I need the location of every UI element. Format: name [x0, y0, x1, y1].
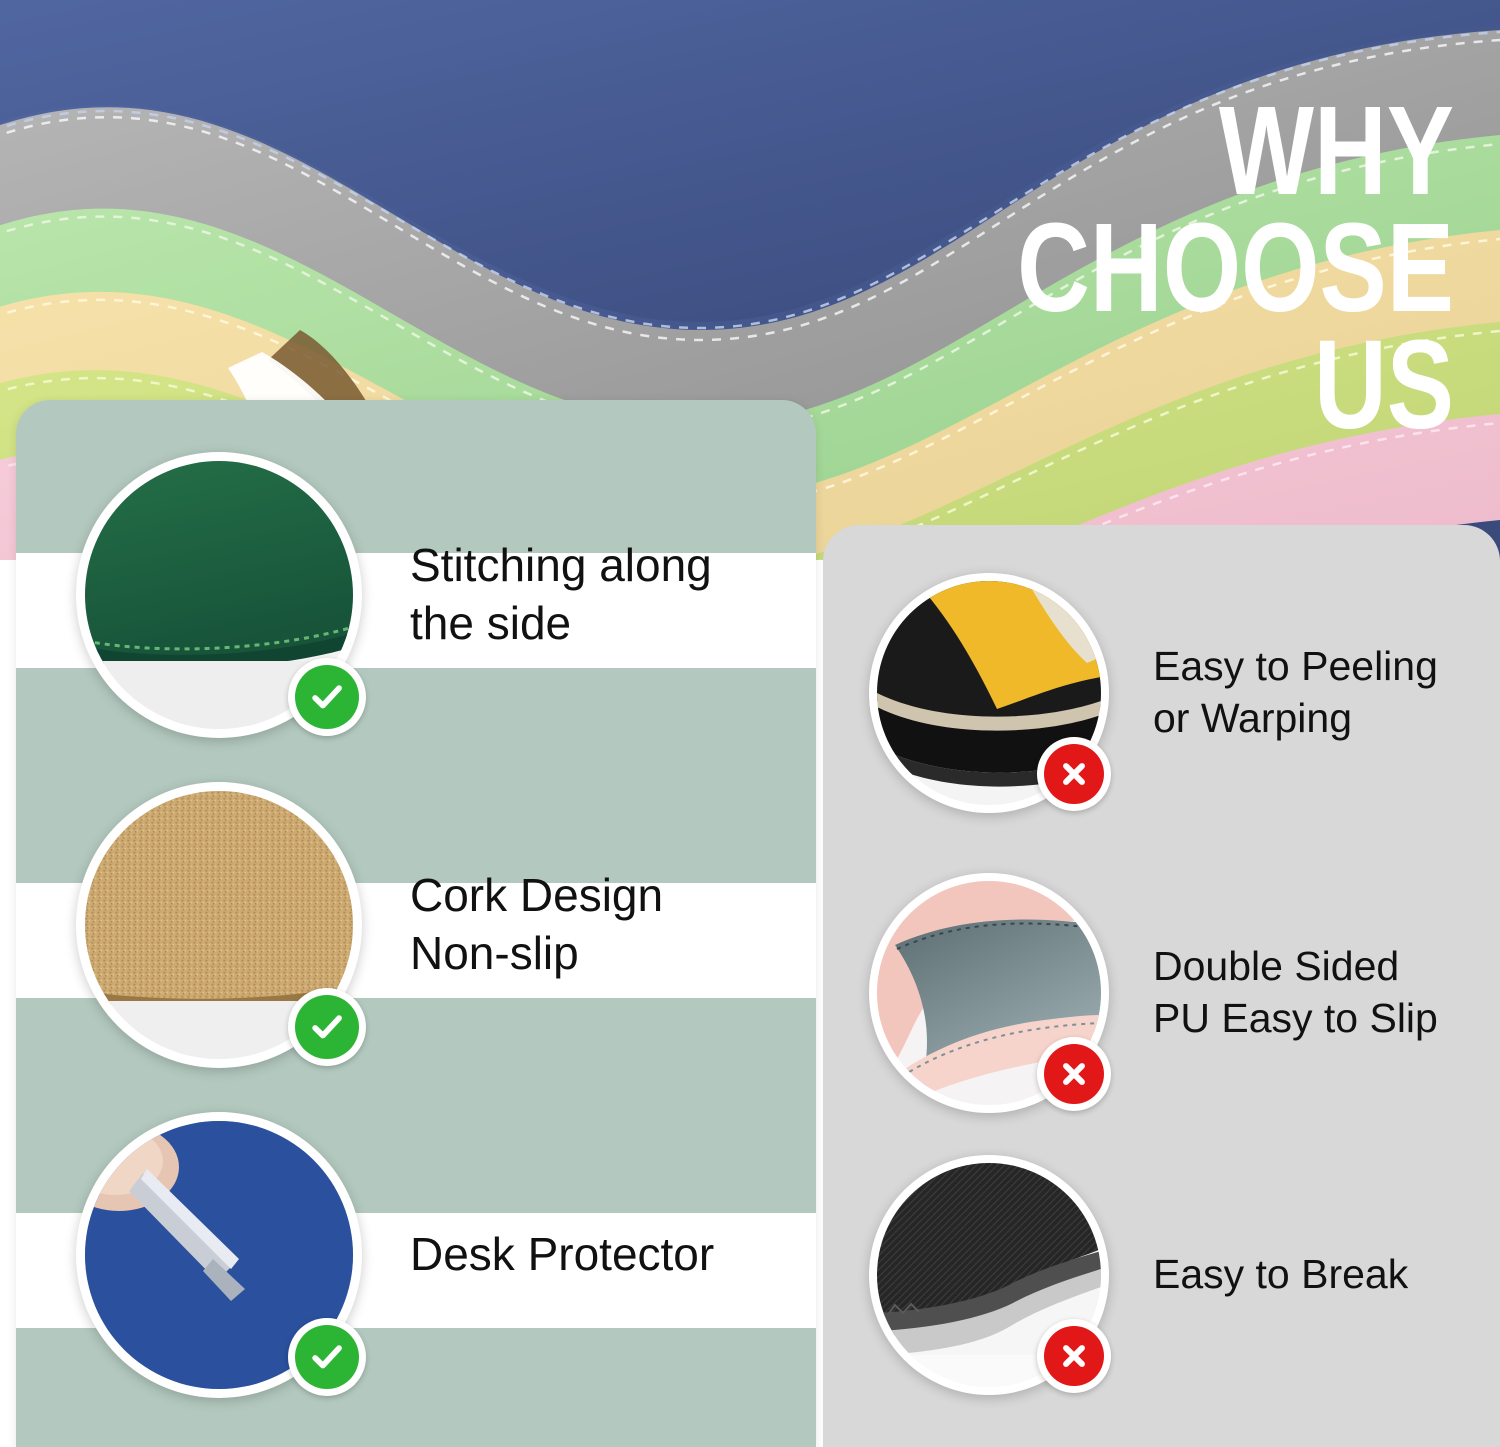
cross-icon — [1058, 758, 1090, 790]
list-item: Double Sided PU Easy to Slip — [869, 873, 1469, 1113]
headline-line-2: CHOOSE US — [894, 209, 1454, 443]
infographic-root: WHY CHOOSE US — [0, 0, 1500, 1447]
list-item-label: Stitching along the side — [410, 537, 712, 653]
check-icon — [308, 678, 346, 716]
cross-icon — [1058, 1340, 1090, 1372]
list-item-label: Easy to Peeling or Warping — [1153, 641, 1438, 744]
cross-badge — [1037, 737, 1111, 811]
headline-line-1: WHY — [894, 92, 1454, 209]
check-badge — [288, 988, 366, 1066]
thumbnail — [869, 573, 1109, 813]
check-icon — [308, 1008, 346, 1046]
list-item: Stitching along the side — [76, 452, 796, 738]
pros-panel: Stitching along the side — [16, 400, 816, 1447]
cons-panel: Easy to Peeling or Warping — [823, 525, 1500, 1447]
list-item: Cork Design Non-slip — [76, 782, 796, 1068]
check-badge — [288, 1318, 366, 1396]
thumbnail — [869, 873, 1109, 1113]
list-item: Desk Protector — [76, 1112, 796, 1398]
check-badge — [288, 658, 366, 736]
list-item-label: Desk Protector — [410, 1226, 714, 1284]
page-title: WHY CHOOSE US — [754, 92, 1454, 444]
cross-badge — [1037, 1037, 1111, 1111]
check-icon — [308, 1338, 346, 1376]
list-item-label: Easy to Break — [1153, 1249, 1408, 1301]
list-item-label: Cork Design Non-slip — [410, 867, 663, 983]
list-item-label: Double Sided PU Easy to Slip — [1153, 941, 1438, 1044]
thumbnail — [76, 452, 362, 738]
cross-badge — [1037, 1319, 1111, 1393]
thumbnail — [869, 1155, 1109, 1395]
thumbnail — [76, 1112, 362, 1398]
thumbnail — [76, 782, 362, 1068]
list-item: Easy to Peeling or Warping — [869, 573, 1469, 813]
list-item: Easy to Break — [869, 1155, 1469, 1395]
cross-icon — [1058, 1058, 1090, 1090]
